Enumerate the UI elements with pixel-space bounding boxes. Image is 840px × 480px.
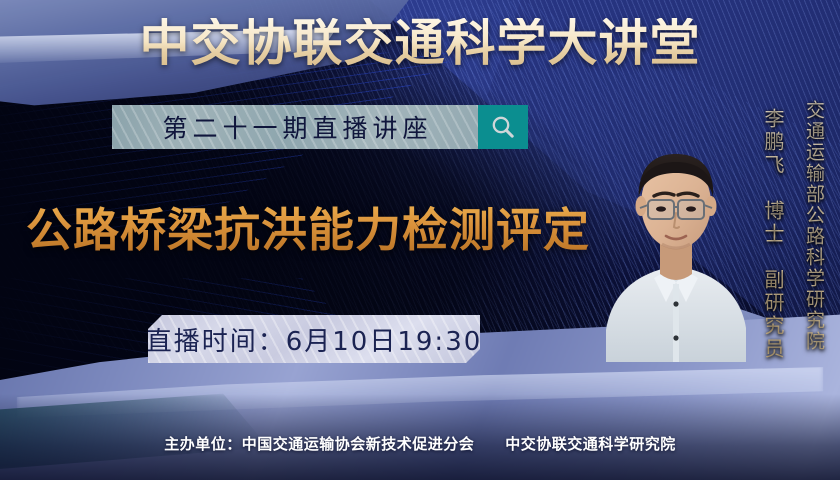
speaker-portrait-image bbox=[604, 116, 748, 362]
poster-canvas: 中交协联交通科学大讲堂 第二十一期直播讲座 公路桥梁抗洪能力检测评定 直播时间：… bbox=[0, 0, 840, 480]
live-time-label: 直播时间：6月10日19:30 bbox=[148, 321, 480, 358]
organizer-footer: 主办单位：中国交通运输协会新技术促进分会 中交协联交通科学研究院 bbox=[0, 433, 840, 454]
search-button[interactable] bbox=[478, 105, 528, 149]
subtitle-bar-body: 第二十一期直播讲座 bbox=[112, 105, 478, 149]
page-title: 中交协联交通科学大讲堂 bbox=[0, 18, 840, 68]
search-icon bbox=[490, 114, 516, 140]
subtitle-label: 第二十一期直播讲座 bbox=[157, 109, 432, 145]
headline: 公路桥梁抗洪能力检测评定 bbox=[26, 206, 590, 254]
subtitle-bar[interactable]: 第二十一期直播讲座 bbox=[112, 105, 528, 149]
live-time-banner: 直播时间：6月10日19:30 bbox=[148, 315, 480, 363]
speaker-portrait bbox=[604, 116, 748, 362]
speaker-affiliation: 交通运输部公路科学研究院 bbox=[801, 100, 828, 352]
speaker-name: 李鹏飞 博士 副研究员 bbox=[759, 108, 788, 361]
